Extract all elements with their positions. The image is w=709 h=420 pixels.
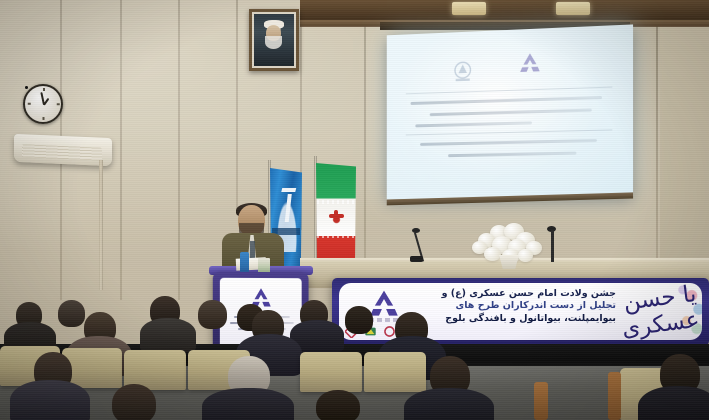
wall-clock bbox=[23, 84, 63, 124]
conference-hall-photo: جشن ولادت امام حسن عسکری (ع) و تجلیل از … bbox=[0, 0, 709, 420]
tri-arrow-icon bbox=[517, 50, 543, 75]
portrait-mat bbox=[252, 12, 296, 68]
framed-portrait bbox=[249, 9, 299, 71]
clock-tick bbox=[28, 103, 31, 105]
flower bbox=[484, 247, 501, 261]
audience-shoulders bbox=[202, 388, 294, 420]
audience-head bbox=[58, 300, 85, 327]
flag-kufic-band-bottom bbox=[317, 234, 355, 238]
seat-armrest bbox=[608, 372, 621, 420]
event-banner: جشن ولادت امام حسن عسکری (ع) و تجلیل از … bbox=[332, 278, 709, 346]
banner-text-block: جشن ولادت امام حسن عسکری (ع) و تجلیل از … bbox=[438, 288, 616, 325]
auditorium-seat bbox=[300, 352, 362, 392]
banner-line-2: تجلیل از دست اندرکاران طرح های bbox=[438, 300, 616, 312]
wall-seam bbox=[236, 0, 238, 215]
seat-armrest bbox=[534, 382, 548, 420]
ceiling-light bbox=[556, 2, 590, 15]
organization-logo-icon bbox=[449, 58, 478, 85]
banner-line-1: جشن ولادت امام حسن عسکری (ع) و bbox=[438, 288, 616, 300]
ac-pipe bbox=[99, 160, 103, 290]
wall-seam bbox=[656, 24, 658, 274]
flower bbox=[518, 249, 533, 262]
clock-tick bbox=[57, 103, 60, 105]
audience-head bbox=[316, 390, 360, 420]
clock-hour-hand bbox=[43, 98, 49, 106]
speaker-tie bbox=[250, 241, 255, 259]
audience-head bbox=[198, 300, 227, 329]
clock-tick bbox=[43, 88, 45, 91]
portrait-image bbox=[254, 14, 294, 66]
wall-right-column bbox=[660, 24, 709, 274]
wall-seam bbox=[120, 0, 122, 300]
stand-microphone bbox=[551, 230, 554, 262]
audience-head bbox=[345, 306, 373, 334]
banner-line-3: بیوایمپلنت، بیواتانول و بافندگی بلوج bbox=[438, 313, 616, 325]
clock-tick bbox=[43, 117, 45, 120]
ceiling-light bbox=[452, 2, 486, 15]
banner-inner-panel: جشن ولادت امام حسن عسکری (ع) و تجلیل از … bbox=[339, 283, 702, 340]
projection-screen bbox=[387, 24, 633, 199]
audience-shoulders bbox=[10, 380, 90, 420]
iran-emblem-icon bbox=[329, 210, 344, 226]
ac-grille bbox=[22, 144, 102, 160]
audience-shoulders bbox=[404, 388, 494, 420]
portrait-beard bbox=[265, 36, 282, 50]
audience-head bbox=[112, 384, 156, 420]
air-conditioner bbox=[14, 134, 112, 166]
auditorium-seat bbox=[364, 352, 426, 392]
microphone-base bbox=[410, 256, 423, 262]
audience-shoulders bbox=[140, 318, 196, 352]
flag-kufic-band-top bbox=[317, 200, 355, 204]
banner-calligraphy: یا حسن عسکری bbox=[611, 283, 701, 340]
wall-seam bbox=[178, 0, 180, 300]
water-bottle bbox=[240, 252, 249, 274]
clock-center-pin bbox=[25, 86, 28, 89]
wall-seam bbox=[364, 26, 366, 258]
audience-shoulders bbox=[638, 386, 709, 420]
